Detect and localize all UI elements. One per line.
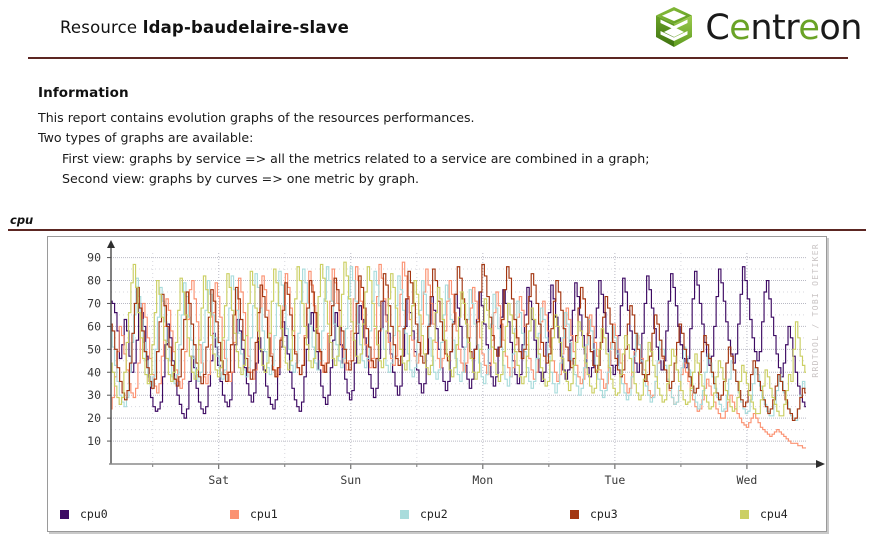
x-axis-tick-label: Tue — [604, 473, 625, 487]
x-axis-arrow — [816, 460, 825, 468]
legend-item-cpu3[interactable]: cpu3 — [570, 507, 740, 521]
legend-label-cpu2: cpu2 — [420, 507, 448, 521]
legend-label-cpu0: cpu0 — [80, 507, 108, 521]
cpu-graph-panel[interactable]: 102030405060708090SatSunMonTueWed RRDTOO… — [47, 236, 827, 532]
information-heading: Information — [38, 85, 738, 101]
chart-legend: cpu0cpu1cpu2cpu3cpu4 — [48, 497, 828, 531]
legend-item-cpu4[interactable]: cpu4 — [740, 507, 876, 521]
information-line-first-view: First view: graphs by service => all the… — [38, 149, 738, 169]
centreon-cube-icon — [651, 4, 697, 50]
y-axis-tick-label: 10 — [87, 434, 101, 448]
section-divider-cpu — [8, 229, 866, 231]
legend-label-cpu3: cpu3 — [590, 507, 618, 521]
brand-text-on: on — [819, 8, 862, 48]
y-axis-tick-label: 40 — [87, 365, 101, 379]
brand-text-e-green: e — [729, 8, 750, 48]
rrdtool-watermark: RRDTOOL / TOBI OETIKER — [811, 243, 820, 378]
legend-item-cpu2[interactable]: cpu2 — [400, 507, 570, 521]
y-axis-tick-label: 50 — [87, 342, 101, 356]
legend-item-cpu1[interactable]: cpu1 — [230, 507, 400, 521]
information-section: Information This report contains evoluti… — [38, 85, 738, 190]
brand-text-ntr: ntr — [750, 8, 798, 48]
legend-item-cpu0[interactable]: cpu0 — [60, 507, 230, 521]
x-axis-tick-label: Sun — [340, 473, 361, 487]
y-axis-tick-label: 80 — [87, 274, 101, 288]
page-title-resource-name: ldap-baudelaire-slave — [143, 18, 349, 37]
header-divider — [28, 57, 848, 59]
legend-label-cpu1: cpu1 — [250, 507, 278, 521]
x-axis-tick-label: Wed — [737, 473, 758, 487]
x-axis-tick-label: Sat — [208, 473, 229, 487]
brand-text-c: C — [705, 8, 729, 48]
cpu-graph-inner: 102030405060708090SatSunMonTueWed RRDTOO… — [48, 237, 826, 531]
legend-swatch-cpu3 — [570, 510, 579, 519]
information-line-1: This report contains evolution graphs of… — [38, 108, 738, 128]
legend-swatch-cpu0 — [60, 510, 69, 519]
page-title: Resource ldap-baudelaire-slave — [60, 18, 349, 37]
y-axis-tick-label: 20 — [87, 411, 101, 425]
y-axis-tick-label: 60 — [87, 319, 101, 333]
legend-swatch-cpu1 — [230, 510, 239, 519]
y-axis-tick-label: 90 — [87, 251, 101, 265]
section-label-cpu: cpu — [10, 213, 33, 227]
brand-text-e-green-2: e — [798, 8, 819, 48]
page-header: Resource ldap-baudelaire-slave — [0, 0, 876, 50]
legend-swatch-cpu4 — [740, 510, 749, 519]
page-title-lead: Resource — [60, 18, 137, 37]
y-axis-tick-label: 30 — [87, 388, 101, 402]
information-line-2: Two types of graphs are available: — [38, 128, 738, 148]
y-axis-arrow — [107, 240, 115, 248]
y-axis-tick-label: 70 — [87, 296, 101, 310]
centreon-wordmark: Centreon — [705, 11, 862, 46]
centreon-logo: Centreon — [651, 4, 862, 50]
legend-swatch-cpu2 — [400, 510, 409, 519]
legend-label-cpu4: cpu4 — [760, 507, 788, 521]
x-axis-tick-label: Mon — [472, 473, 493, 487]
information-line-second-view: Second view: graphs by curves => one met… — [38, 169, 738, 189]
cpu-line-chart[interactable]: 102030405060708090SatSunMonTueWed — [48, 237, 828, 495]
